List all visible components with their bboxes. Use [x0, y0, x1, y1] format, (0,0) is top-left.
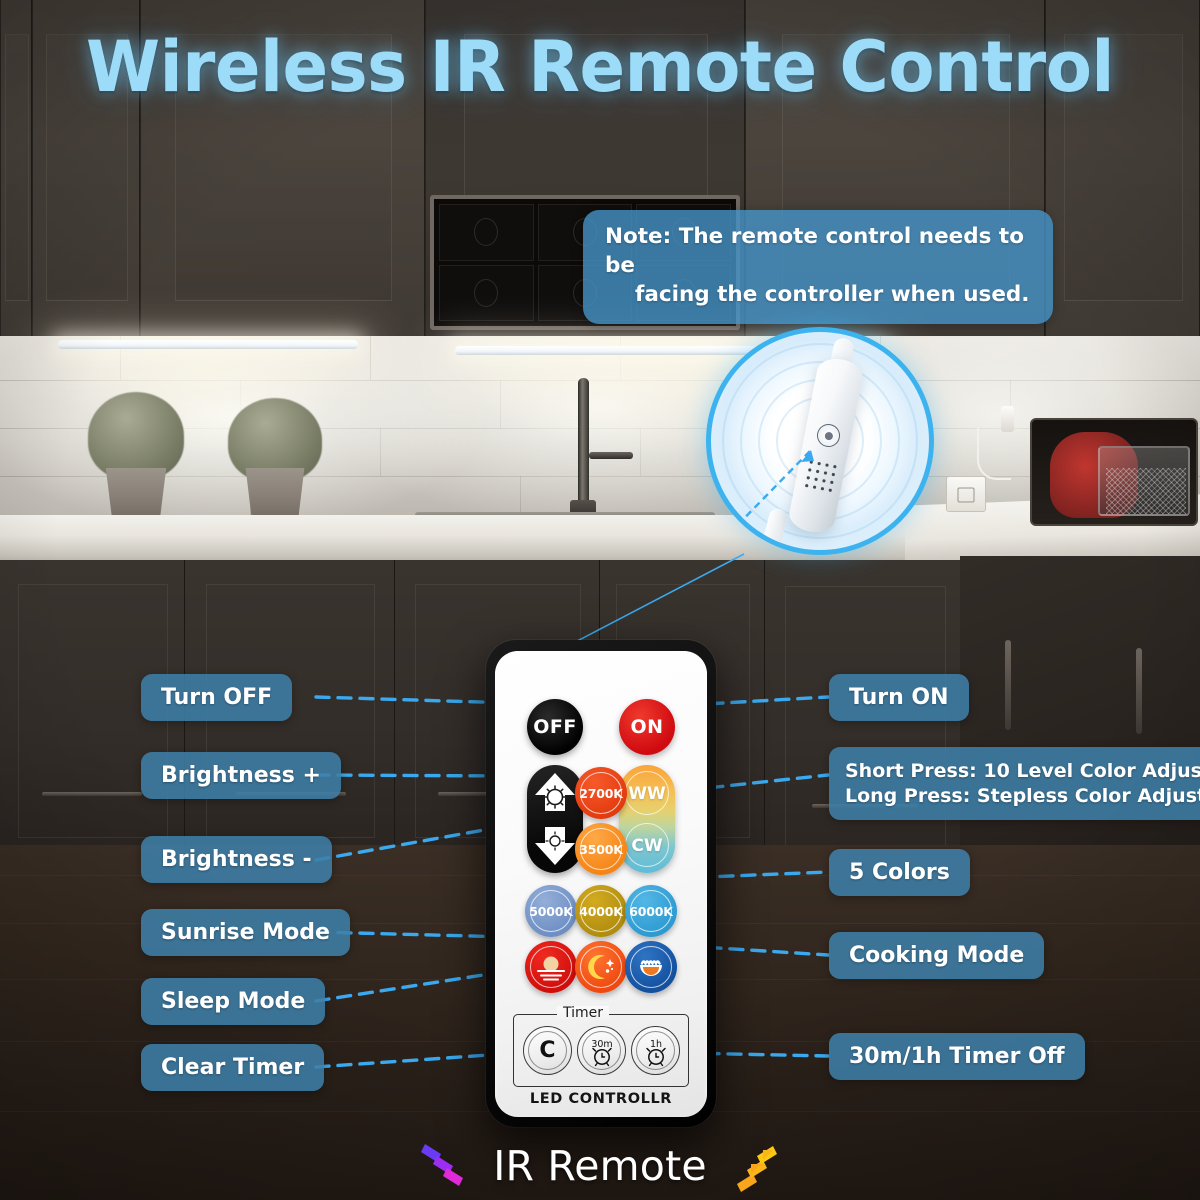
callout-brightness-up[interactable]: Brightness +	[141, 752, 341, 799]
off-button[interactable]: OFF	[527, 699, 583, 755]
timer-group-label: Timer	[557, 1006, 609, 1020]
cooking-mode-button[interactable]	[625, 941, 677, 993]
alarm-clock-icon: 30m	[584, 1033, 620, 1069]
on-button[interactable]: ON	[619, 699, 675, 755]
sleep-mode-button[interactable]	[575, 941, 627, 993]
color-3500k-button[interactable]: 3500K	[575, 823, 627, 875]
callout-color-adjust-line-1: Short Press: 10 Level Color Adjust	[845, 760, 1200, 782]
purple-chevrons-icon	[419, 1140, 479, 1192]
faucet-arm	[589, 452, 633, 459]
alarm-clock-icon: 1h	[638, 1033, 674, 1069]
orange-chevrons-icon	[721, 1140, 781, 1192]
clear-timer-button[interactable]: C	[523, 1026, 572, 1075]
page-title: Wireless IR Remote Control	[24, 26, 1176, 108]
remote-brand-text: LED CONTROLLR	[495, 1091, 707, 1107]
callout-brightness-down[interactable]: Brightness -	[141, 836, 332, 883]
callout-sleep-mode[interactable]: Sleep Mode	[141, 978, 325, 1025]
brightness-down-icon	[535, 827, 575, 865]
callout-turn-on[interactable]: Turn ON	[829, 674, 969, 721]
cooking-bowl-icon	[634, 950, 668, 984]
callout-cooking-mode[interactable]: Cooking Mode	[829, 932, 1044, 979]
callout-clear-timer[interactable]: Clear Timer	[141, 1044, 324, 1091]
ww-label: WW	[619, 784, 675, 804]
timer-30m-button[interactable]: 30m	[577, 1026, 626, 1075]
callout-turn-off[interactable]: Turn OFF	[141, 674, 292, 721]
potted-plant	[88, 392, 184, 480]
note-line-2: facing the controller when used.	[605, 281, 1031, 310]
brightness-up-icon	[535, 773, 575, 811]
clear-timer-label: C	[539, 1038, 555, 1063]
sunrise-mode-button[interactable]	[525, 941, 577, 993]
ir-remote-control: OFF ON	[486, 640, 716, 1127]
cw-label: CW	[619, 836, 675, 856]
note-line-1: Note: The remote control needs to be	[605, 224, 1024, 278]
color-6000k-button[interactable]: 6000K	[625, 885, 677, 937]
footer-ir-remote: IR Remote	[0, 1137, 1200, 1195]
on-button-label: ON	[630, 716, 663, 738]
color-2700k-button[interactable]: 2700K	[575, 767, 627, 819]
color-5000k-label: 5000K	[529, 904, 572, 919]
color-5000k-button[interactable]: 5000K	[525, 885, 577, 937]
counter-appliance	[1030, 418, 1198, 526]
callout-color-adjust[interactable]: Short Press: 10 Level Color Adjust Long …	[829, 747, 1200, 820]
sunrise-icon	[534, 950, 568, 984]
ir-receiver-dots-icon	[802, 457, 837, 492]
ir-controller-magnifier	[706, 327, 934, 555]
footer-ir-remote-text: IR Remote	[493, 1142, 707, 1190]
brightness-pill	[527, 765, 583, 873]
ww-cw-color-pill[interactable]: WW CW	[619, 765, 675, 873]
remote-faceplate: OFF ON	[495, 651, 707, 1117]
callout-color-adjust-line-2: Long Press: Stepless Color Adjust	[845, 785, 1200, 807]
color-6000k-label: 6000K	[629, 904, 672, 919]
callout-5-colors[interactable]: 5 Colors	[829, 849, 970, 896]
callout-sunrise-mode[interactable]: Sunrise Mode	[141, 909, 350, 956]
led-strip-light	[58, 340, 358, 349]
color-4000k-button[interactable]: 4000K	[575, 885, 627, 937]
timer-30m-label: 30m	[591, 1039, 612, 1050]
infographic-canvas: Wireless IR Remote Control Note: The rem…	[0, 0, 1200, 1200]
color-2700k-label: 2700K	[579, 786, 622, 801]
off-button-label: OFF	[533, 716, 577, 738]
color-3500k-label: 3500K	[579, 842, 622, 857]
moon-stars-icon	[584, 950, 618, 984]
plug	[1001, 406, 1014, 432]
wall-outlet	[946, 476, 986, 512]
color-4000k-label: 4000K	[579, 904, 622, 919]
right-cabinet-wall	[960, 556, 1200, 886]
callout-timer-off[interactable]: 30m/1h Timer Off	[829, 1033, 1085, 1080]
timer-1h-button[interactable]: 1h	[631, 1026, 680, 1075]
power-cord	[977, 428, 1011, 480]
note-callout: Note: The remote control needs to be fac…	[583, 210, 1053, 324]
timer-1h-label: 1h	[649, 1039, 661, 1050]
